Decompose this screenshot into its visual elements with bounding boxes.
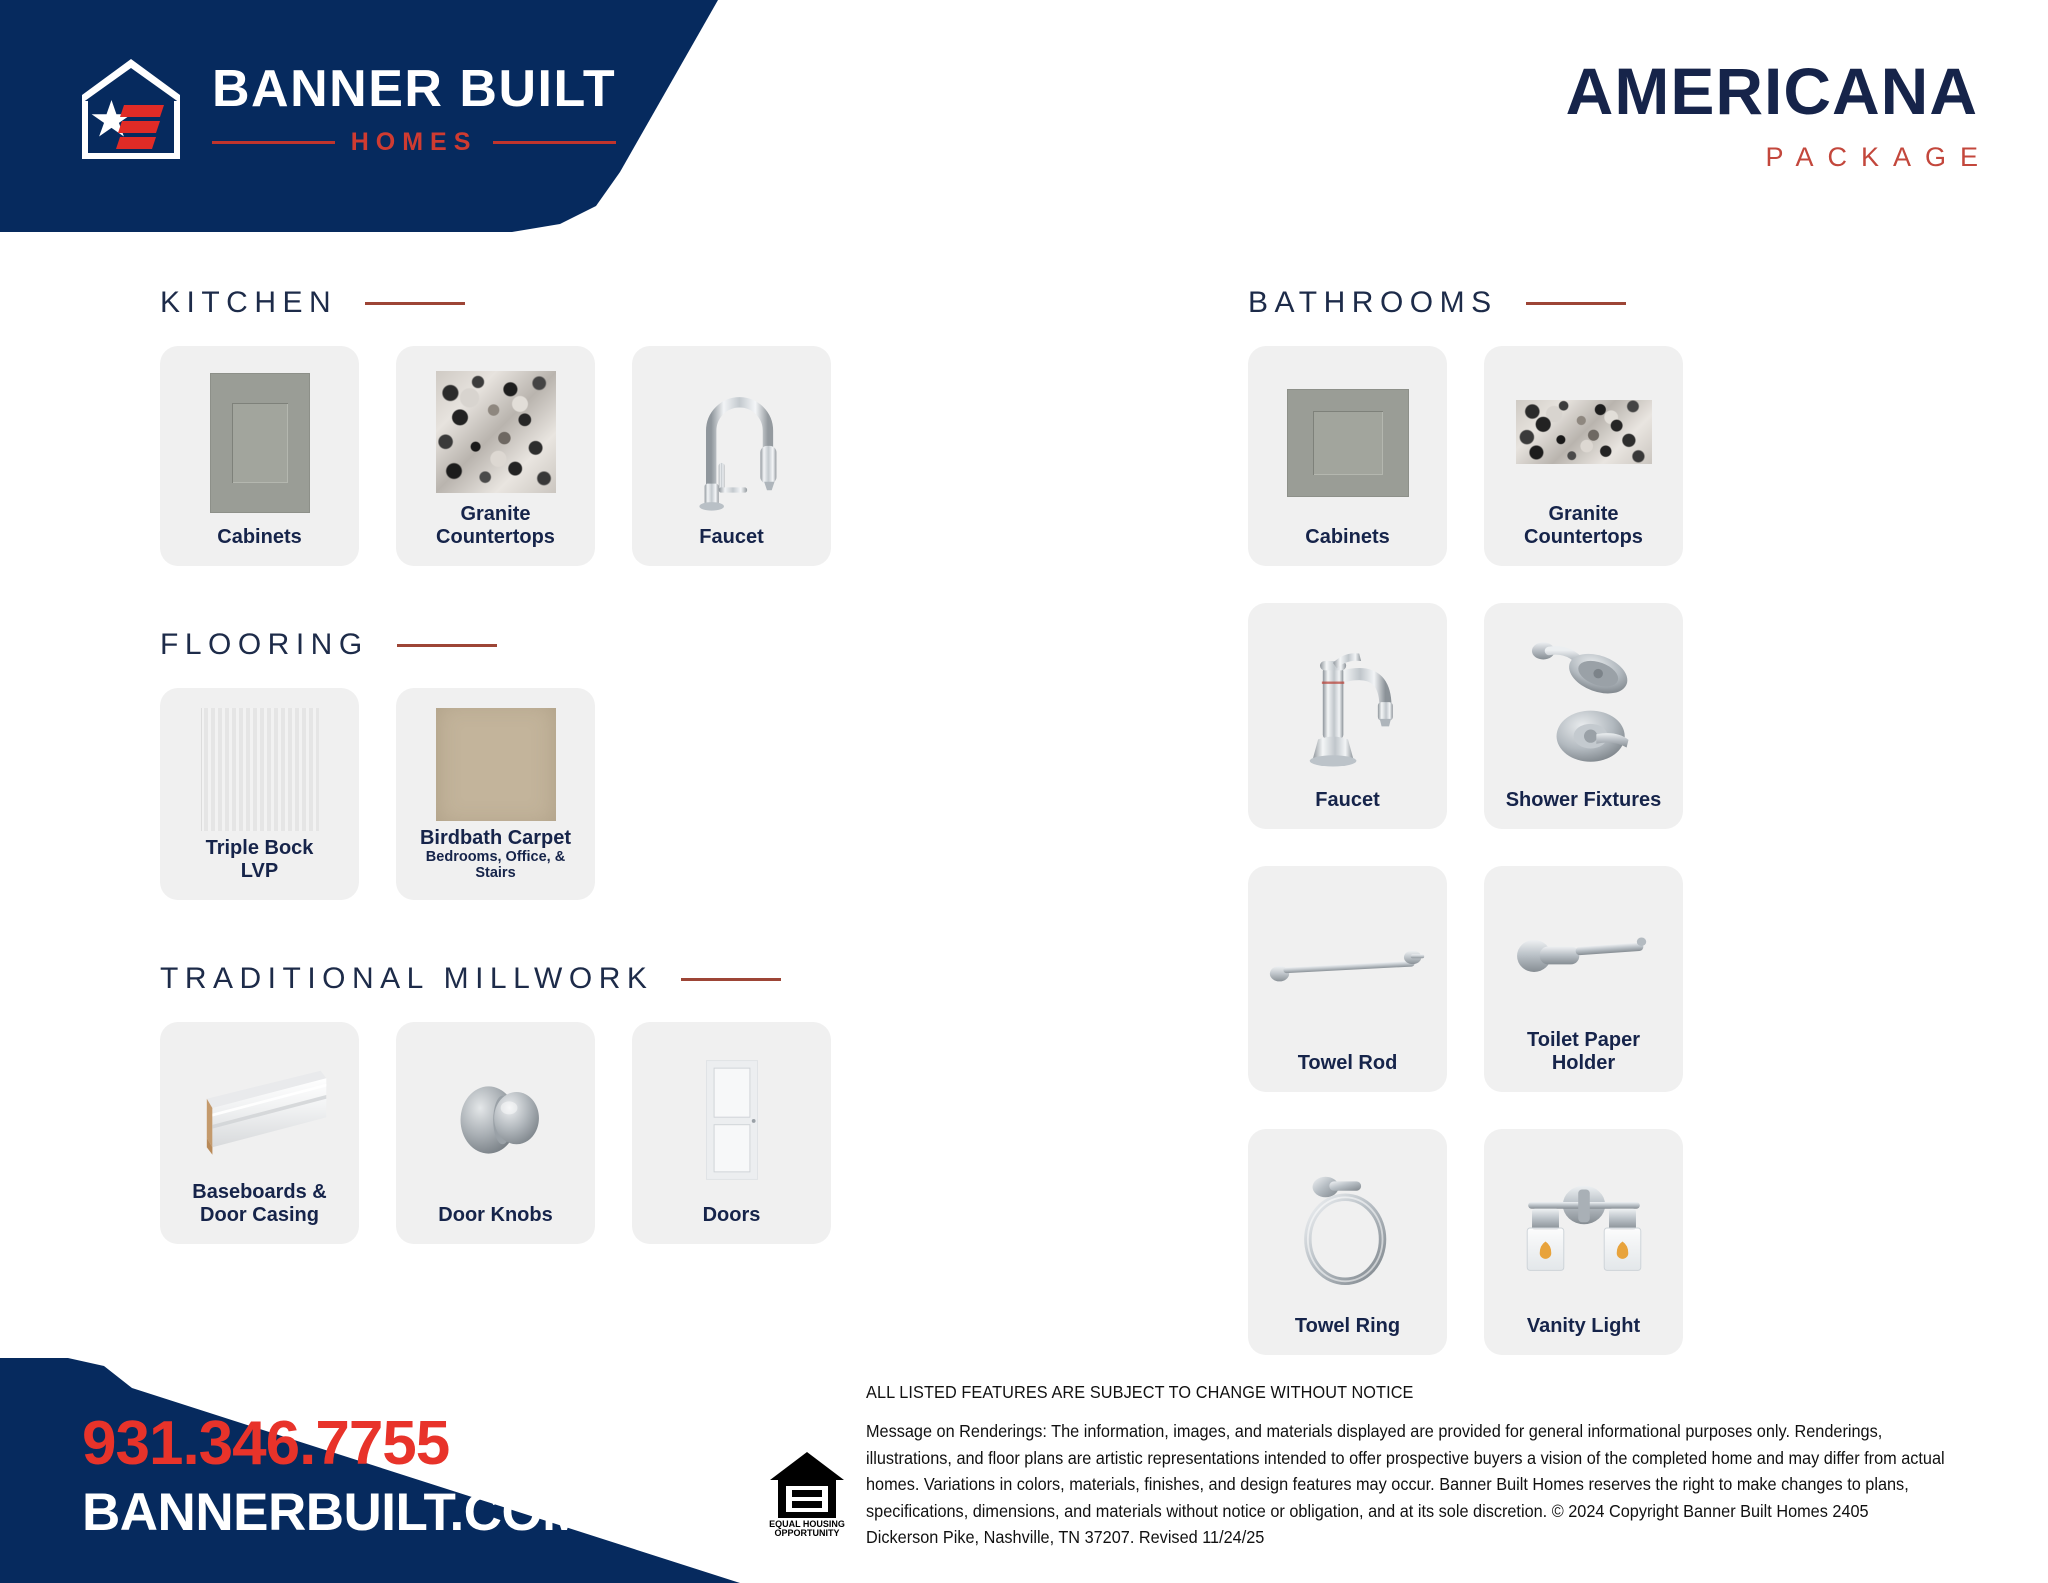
section-rule bbox=[397, 644, 497, 647]
card-label-line1: Granite bbox=[460, 503, 530, 525]
card-label: Birdbath Carpet bbox=[420, 821, 571, 849]
package-title: AMERICANA bbox=[1566, 58, 1978, 124]
right-column: BATHROOMS Cabinets Granite Countertops bbox=[1248, 286, 1708, 1355]
card-bath-faucet[interactable]: Faucet bbox=[1248, 603, 1447, 829]
granite-swatch-icon bbox=[1494, 366, 1673, 497]
card-flooring-lvp[interactable]: Triple Bock LVP bbox=[160, 688, 359, 900]
card-kitchen-faucet[interactable]: Faucet bbox=[632, 346, 831, 566]
card-label-line1: Triple Bock bbox=[206, 837, 314, 859]
card-bath-granite[interactable]: Granite Countertops bbox=[1484, 346, 1683, 566]
card-label: Towel Ring bbox=[1295, 1309, 1400, 1337]
card-label: Door Knobs bbox=[438, 1198, 552, 1226]
card-bath-towel-rod[interactable]: Towel Rod bbox=[1248, 866, 1447, 1092]
section-grid-millwork: Baseboards & Door Casing bbox=[160, 1022, 860, 1244]
section-title-millwork: TRADITIONAL MILLWORK bbox=[160, 962, 653, 996]
card-millwork-doors[interactable]: Doors bbox=[632, 1022, 831, 1244]
card-label-line1: Baseboards & bbox=[192, 1181, 327, 1203]
granite-swatch-icon bbox=[406, 366, 585, 497]
card-label: Toilet Paper Holder bbox=[1494, 1023, 1673, 1074]
card-millwork-knobs[interactable]: Door Knobs bbox=[396, 1022, 595, 1244]
card-label: Granite Countertops bbox=[1524, 497, 1643, 548]
legal-heading: ALL LISTED FEATURES ARE SUBJECT TO CHANG… bbox=[866, 1382, 1945, 1403]
card-label: Vanity Light bbox=[1527, 1309, 1640, 1337]
footer-phone[interactable]: 931.346.7755 bbox=[82, 1413, 449, 1475]
section-rule bbox=[1526, 302, 1626, 305]
section-title-bathrooms: BATHROOMS bbox=[1248, 286, 1498, 320]
card-label: Cabinets bbox=[217, 520, 301, 548]
card-label-line2: Countertops bbox=[436, 526, 555, 548]
kitchen-pulldown-faucet-icon bbox=[642, 366, 821, 520]
card-flooring-carpet[interactable]: Birdbath Carpet Bedrooms, Office, & Stai… bbox=[396, 688, 595, 900]
brand-wordmark: BANNER BUILT HOMES bbox=[212, 63, 616, 157]
section-header-kitchen: KITCHEN bbox=[160, 286, 860, 320]
card-label-line2: Door Casing bbox=[200, 1204, 319, 1226]
brochure-page: BANNER BUILT HOMES AMERICANA PACKAGE KIT… bbox=[0, 0, 2048, 1583]
equal-housing-opportunity-logo-icon: EQUAL HOUSING OPPORTUNITY bbox=[768, 1448, 846, 1538]
card-label-line2: LVP bbox=[241, 860, 278, 882]
house-flag-star-logo-icon bbox=[72, 55, 190, 165]
card-bath-shower[interactable]: Shower Fixtures bbox=[1484, 603, 1683, 829]
card-label: Shower Fixtures bbox=[1506, 783, 1662, 811]
legal-disclaimer: ALL LISTED FEATURES ARE SUBJECT TO CHANG… bbox=[866, 1382, 2026, 1551]
section-header-millwork: TRADITIONAL MILLWORK bbox=[160, 962, 860, 996]
cabinet-door-swatch-icon bbox=[170, 366, 349, 520]
section-title-kitchen: KITCHEN bbox=[160, 286, 337, 320]
card-label: Triple Bock LVP bbox=[206, 831, 314, 882]
left-column: KITCHEN Cabinets Granite Countertops bbox=[160, 286, 860, 1244]
brand-name: BANNER BUILT bbox=[212, 63, 616, 115]
towel-bar-icon bbox=[1258, 886, 1437, 1046]
brand-logo: BANNER BUILT HOMES bbox=[72, 55, 616, 165]
carpet-swatch-icon bbox=[406, 708, 585, 821]
section-header-flooring: FLOORING bbox=[160, 628, 860, 662]
card-bath-towel-ring[interactable]: Towel Ring bbox=[1248, 1129, 1447, 1355]
section-grid-bathrooms: Cabinets Granite Countertops bbox=[1248, 346, 1708, 1355]
card-millwork-baseboards[interactable]: Baseboards & Door Casing bbox=[160, 1022, 359, 1244]
section-rule bbox=[365, 302, 465, 305]
brand-rule-left bbox=[212, 141, 335, 144]
legal-body: Message on Renderings: The information, … bbox=[866, 1418, 1945, 1551]
two-panel-door-icon bbox=[642, 1042, 821, 1198]
card-bath-vanity-light[interactable]: Vanity Light bbox=[1484, 1129, 1683, 1355]
section-grid-kitchen: Cabinets Granite Countertops bbox=[160, 346, 860, 566]
package-title-block: AMERICANA PACKAGE bbox=[1566, 58, 1978, 173]
section-title-flooring: FLOORING bbox=[160, 628, 369, 662]
svg-text:OPPORTUNITY: OPPORTUNITY bbox=[774, 1528, 839, 1538]
card-label: Baseboards & Door Casing bbox=[192, 1175, 327, 1226]
card-label: Faucet bbox=[699, 520, 763, 548]
card-kitchen-cabinets[interactable]: Cabinets bbox=[160, 346, 359, 566]
card-kitchen-granite[interactable]: Granite Countertops bbox=[396, 346, 595, 566]
card-label: Towel Rod bbox=[1298, 1046, 1398, 1074]
card-label: Cabinets bbox=[1305, 520, 1389, 548]
toilet-paper-holder-icon bbox=[1494, 886, 1673, 1023]
card-label-line1: Granite bbox=[1548, 503, 1618, 525]
brand-sub-row: HOMES bbox=[212, 128, 616, 157]
towel-ring-icon bbox=[1258, 1149, 1437, 1309]
card-label: Faucet bbox=[1315, 783, 1379, 811]
section-header-bathrooms: BATHROOMS bbox=[1248, 286, 1708, 320]
card-sublabel: Bedrooms, Office, & Stairs bbox=[406, 850, 585, 882]
card-label: Granite Countertops bbox=[436, 497, 555, 548]
section-grid-flooring: Triple Bock LVP Birdbath Carpet Bedrooms… bbox=[160, 688, 860, 900]
two-bulb-vanity-light-icon bbox=[1494, 1149, 1673, 1309]
footer-website[interactable]: BANNERBUILT.COM bbox=[82, 1486, 586, 1539]
shower-head-and-valve-icon bbox=[1494, 623, 1673, 783]
brand-rule-right bbox=[493, 141, 616, 144]
card-bath-tp-holder[interactable]: Toilet Paper Holder bbox=[1484, 866, 1683, 1092]
card-label-line2: Countertops bbox=[1524, 526, 1643, 548]
brand-sub: HOMES bbox=[351, 128, 478, 157]
card-bath-cabinets[interactable]: Cabinets bbox=[1248, 346, 1447, 566]
baseboard-molding-icon bbox=[170, 1042, 349, 1175]
cabinet-door-swatch-icon bbox=[1258, 366, 1437, 520]
bath-single-hole-faucet-icon bbox=[1258, 623, 1437, 783]
lvp-plank-swatch-icon bbox=[170, 708, 349, 831]
package-subtitle: PACKAGE bbox=[1566, 142, 1992, 173]
door-knob-icon bbox=[406, 1042, 585, 1198]
card-label: Doors bbox=[703, 1198, 761, 1226]
section-rule bbox=[681, 978, 781, 981]
